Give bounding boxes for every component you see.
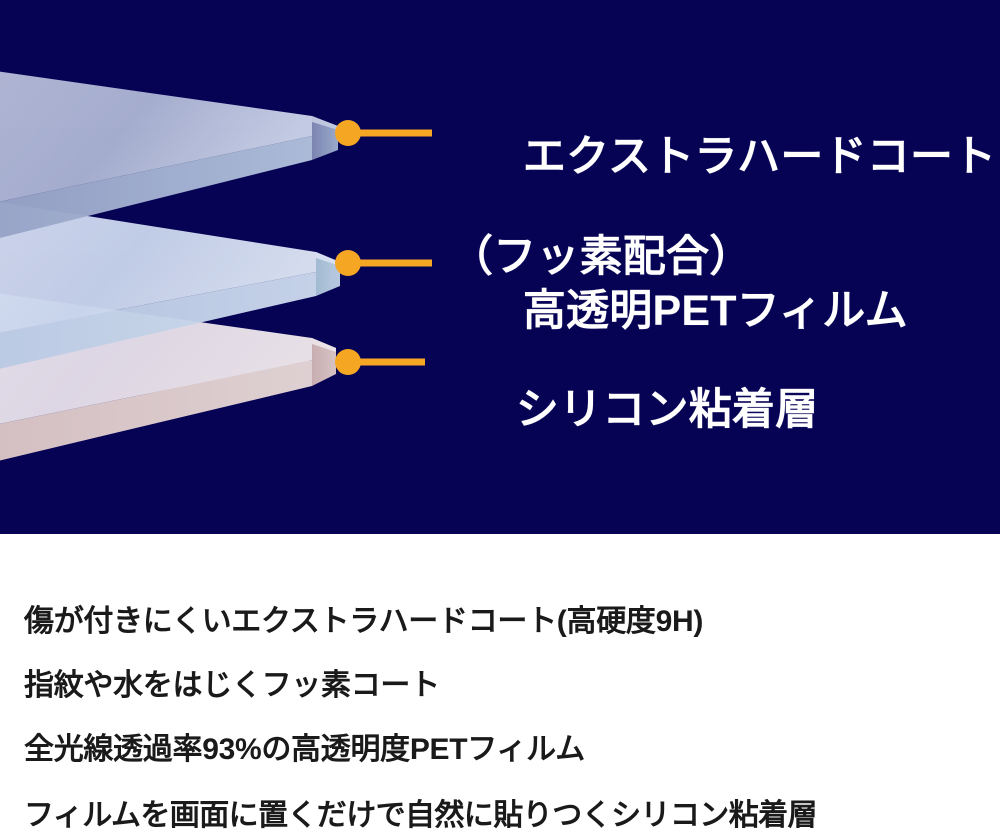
- leader-dot-pet-film: [335, 250, 361, 276]
- leader-dot-hard-coat: [335, 120, 361, 146]
- callout-leader-silicone: [335, 349, 425, 375]
- feature-item-0: 傷が付きにくいエクストラハードコート(高硬度9H): [24, 596, 703, 640]
- callout-label-hard-coat-line1: エクストラハードコート: [523, 133, 996, 181]
- feature-item-1: 指紋や水をはじくフッ素コート: [24, 660, 440, 704]
- layer-diagram-panel: エクストラハードコート （フッ素配合） 高透明PETフィルム シリコン粘着層: [0, 0, 1000, 534]
- callout-leader-hard-coat: [335, 120, 432, 146]
- hard-coat-plate-shape: [0, 66, 338, 248]
- feature-item-3: フィルムを画面に置くだけで自然に貼りつくシリコン粘着層: [24, 790, 817, 834]
- callout-label-pet-film-line1: 高透明PETフィルム: [523, 287, 908, 335]
- leader-dot-silicone: [335, 349, 361, 375]
- product-feature-graphic: エクストラハードコート （フッ素配合） 高透明PETフィルム シリコン粘着層 傷…: [0, 0, 1000, 835]
- feature-item-2: 全光線透過率93%の高透明度PETフィルム: [24, 724, 585, 768]
- feature-list: 傷が付きにくいエクストラハードコート(高硬度9H) 指紋や水をはじくフッ素コート…: [0, 534, 1000, 835]
- callout-leader-pet-film: [335, 250, 432, 276]
- callout-label-silicone-line1: シリコン粘着層: [516, 386, 818, 434]
- callout-label-silicone: シリコン粘着層: [443, 337, 818, 484]
